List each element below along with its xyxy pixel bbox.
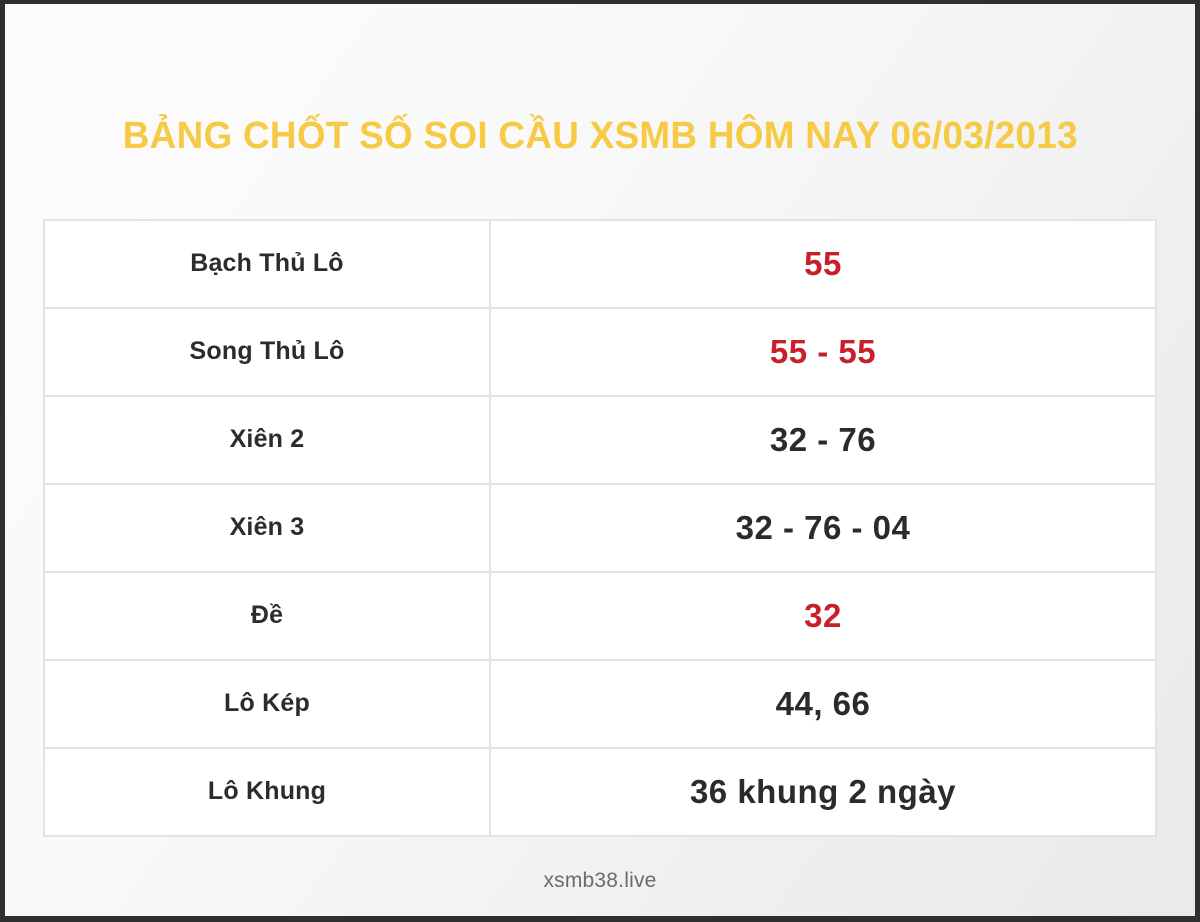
table-row: Song Thủ Lô55 - 55 [44, 308, 1156, 396]
row-value: 44, 66 [776, 685, 871, 722]
row-label-cell: Lô Khung [44, 748, 490, 836]
row-value-cell: 55 - 55 [490, 308, 1156, 396]
row-value-cell: 32 [490, 572, 1156, 660]
row-value-cell: 44, 66 [490, 660, 1156, 748]
page-title: BẢNG CHỐT SỐ SOI CẦU XSMB HÔM NAY 06/03/… [122, 117, 1077, 157]
site-credit: xsmb38.live [543, 869, 656, 892]
row-value-cell: 36 khung 2 ngày [490, 748, 1156, 836]
row-label: Bạch Thủ Lô [190, 249, 344, 277]
row-label-cell: Đề [44, 572, 490, 660]
table-row: Bạch Thủ Lô55 [44, 220, 1156, 308]
row-value: 55 - 55 [770, 333, 876, 370]
row-value: 32 - 76 [770, 421, 876, 458]
table-row: Xiên 332 - 76 - 04 [44, 484, 1156, 572]
table-row: Xiên 232 - 76 [44, 396, 1156, 484]
table-row: Đề32 [44, 572, 1156, 660]
row-value: 32 [804, 597, 842, 634]
row-value: 32 - 76 - 04 [736, 509, 911, 546]
row-label-cell: Xiên 2 [44, 396, 490, 484]
row-value-cell: 32 - 76 [490, 396, 1156, 484]
table-row: Lô Khung36 khung 2 ngày [44, 748, 1156, 836]
prediction-table-body: Bạch Thủ Lô55Song Thủ Lô55 - 55Xiên 232 … [44, 220, 1156, 836]
page-frame: BẢNG CHỐT SỐ SOI CẦU XSMB HÔM NAY 06/03/… [0, 0, 1200, 922]
row-value-cell: 32 - 76 - 04 [490, 484, 1156, 572]
row-label: Xiên 3 [230, 513, 305, 541]
row-value: 55 [804, 245, 842, 282]
row-label-cell: Lô Kép [44, 660, 490, 748]
row-value-cell: 55 [490, 220, 1156, 308]
row-label-cell: Xiên 3 [44, 484, 490, 572]
row-label: Lô Kép [224, 689, 310, 717]
table-row: Lô Kép44, 66 [44, 660, 1156, 748]
row-label-cell: Song Thủ Lô [44, 308, 490, 396]
footer-block: xsmb38.live [5, 869, 1195, 893]
row-label-cell: Bạch Thủ Lô [44, 220, 490, 308]
row-label: Lô Khung [208, 777, 326, 805]
row-label: Song Thủ Lô [190, 337, 345, 365]
row-value: 36 khung 2 ngày [690, 773, 956, 810]
prediction-table-wrapper: Bạch Thủ Lô55Song Thủ Lô55 - 55Xiên 232 … [43, 219, 1157, 837]
row-label: Đề [251, 601, 283, 629]
row-label: Xiên 2 [230, 425, 305, 453]
title-block: BẢNG CHỐT SỐ SOI CẦU XSMB HÔM NAY 06/03/… [5, 92, 1195, 183]
prediction-table: Bạch Thủ Lô55Song Thủ Lô55 - 55Xiên 232 … [43, 219, 1157, 837]
